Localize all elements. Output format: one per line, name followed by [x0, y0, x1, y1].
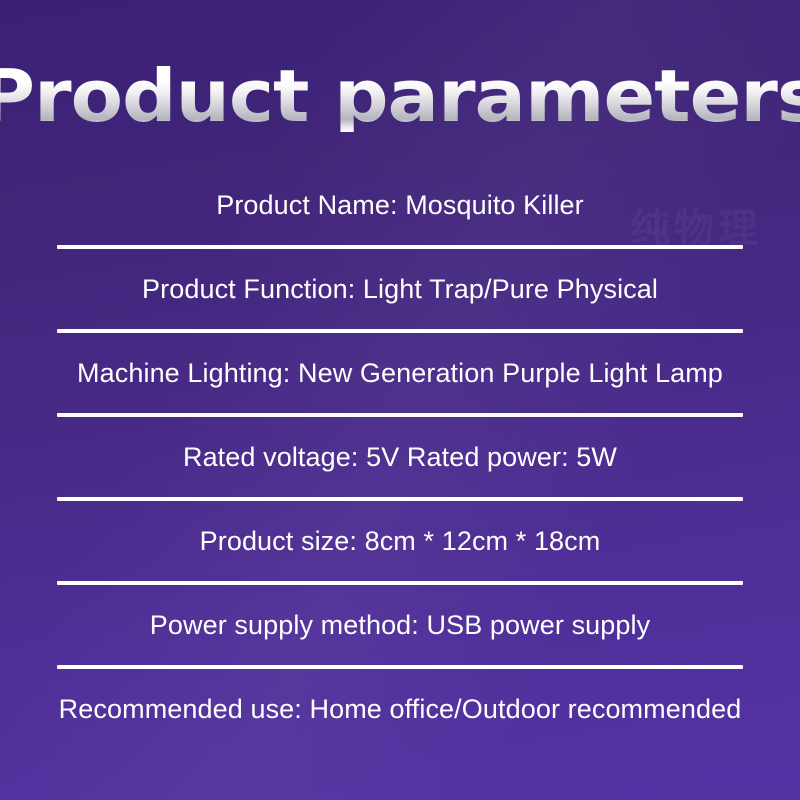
spec-row: Rated voltage: 5V Rated power: 5W	[0, 430, 800, 514]
spec-row: Product Function: Light Trap/Pure Physic…	[0, 262, 800, 346]
spec-list: Product Name: Mosquito Killer Product Fu…	[0, 178, 800, 766]
spec-row: Recommended use: Home office/Outdoor rec…	[0, 682, 800, 766]
spec-row-divider	[57, 665, 743, 669]
spec-row-divider	[57, 497, 743, 501]
spec-row-label: Product size: 8cm * 12cm * 18cm	[0, 520, 800, 562]
spec-row-label: Recommended use: Home office/Outdoor rec…	[0, 688, 800, 730]
spec-row-divider	[57, 329, 743, 333]
spec-row: Product size: 8cm * 12cm * 18cm	[0, 514, 800, 598]
spec-row-label: Product Name: Mosquito Killer	[0, 184, 800, 226]
spec-row-label: Machine Lighting: New Generation Purple …	[0, 352, 800, 394]
spec-row-divider	[57, 245, 743, 249]
spec-row: Machine Lighting: New Generation Purple …	[0, 346, 800, 430]
page-title-text: Product parameters	[0, 60, 800, 132]
spec-row-label: Power supply method: USB power supply	[0, 604, 800, 646]
spec-row-label: Rated voltage: 5V Rated power: 5W	[0, 436, 800, 478]
spec-row-divider	[57, 581, 743, 585]
spec-row-divider	[57, 413, 743, 417]
spec-row: Power supply method: USB power supply	[0, 598, 800, 682]
spec-row: Product Name: Mosquito Killer	[0, 178, 800, 262]
product-parameters-card: 纯物理 Product parameters Product Name: Mos…	[0, 0, 800, 800]
spec-row-label: Product Function: Light Trap/Pure Physic…	[0, 268, 800, 310]
page-title: Product parameters	[0, 60, 800, 132]
